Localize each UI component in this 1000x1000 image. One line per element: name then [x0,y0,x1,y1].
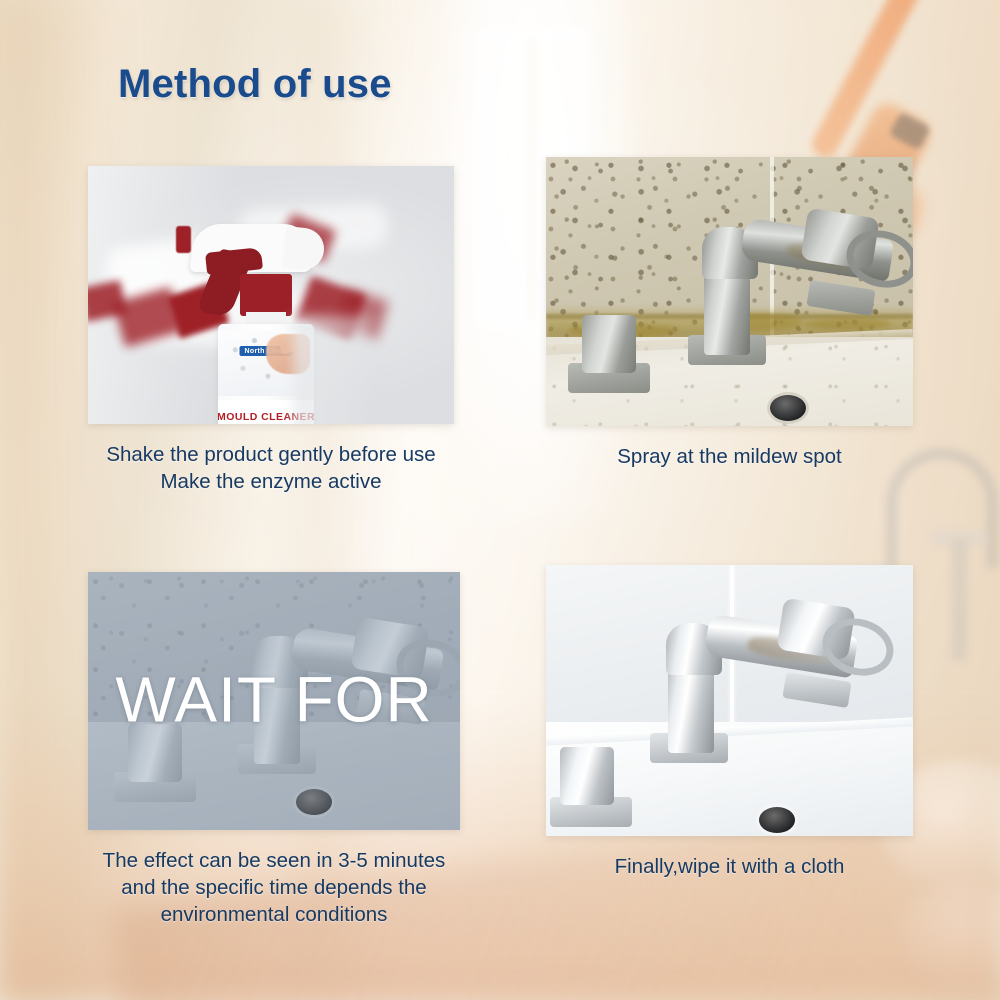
step-1-caption: Shake the product gently before use Make… [88,441,454,495]
sprayer-collar [240,274,292,316]
step-1: North Clean MOULD CLEANER Shake the prod… [88,166,454,495]
red-fragment [176,226,191,253]
bathroom-scene-clean [546,565,913,836]
faucet-knob [582,315,636,373]
caption-line: Spray at the mildew spot [546,443,913,470]
drain-hole [296,789,332,815]
caption-line: The effect can be seen in 3-5 minutes [88,847,460,874]
caption-line: Finally,wipe it with a cloth [546,853,913,880]
counter-grey [88,722,460,830]
step-4: Finally,wipe it with a cloth [546,565,913,880]
caption-line: Make the enzyme active [88,468,454,495]
step-4-caption: Finally,wipe it with a cloth [546,853,913,880]
faucet-knob-base [114,772,196,802]
bathroom-scene-dirty [546,157,913,426]
wait-overlay-text: WAIT FOR [88,668,460,732]
counter-edge [546,717,913,745]
caption-line: environmental conditions [88,901,460,928]
faucet-knob [560,747,614,805]
step-2: Spray at the mildew spot [546,157,913,470]
faucet-spout-base [238,744,316,774]
drain-hole [770,395,806,421]
mildew-faucet-photo [546,157,913,426]
page-title: Method of use [118,62,392,107]
step-3: WAIT FOR The effect can be seen in 3-5 m… [88,572,460,928]
clean-faucet-photo [546,565,913,836]
step-2-caption: Spray at the mildew spot [546,443,913,470]
step-3-caption: The effect can be seen in 3-5 minutes an… [88,847,460,928]
spray-bottle-photo: North Clean MOULD CLEANER [88,166,454,424]
wait-faucet-photo: WAIT FOR [88,572,460,830]
caption-line: Shake the product gently before use [88,441,454,468]
infographic-page: Method of use North Clean [0,0,1000,1000]
caption-line: and the specific time depends the [88,874,460,901]
motion-blur-overlay [294,316,372,424]
